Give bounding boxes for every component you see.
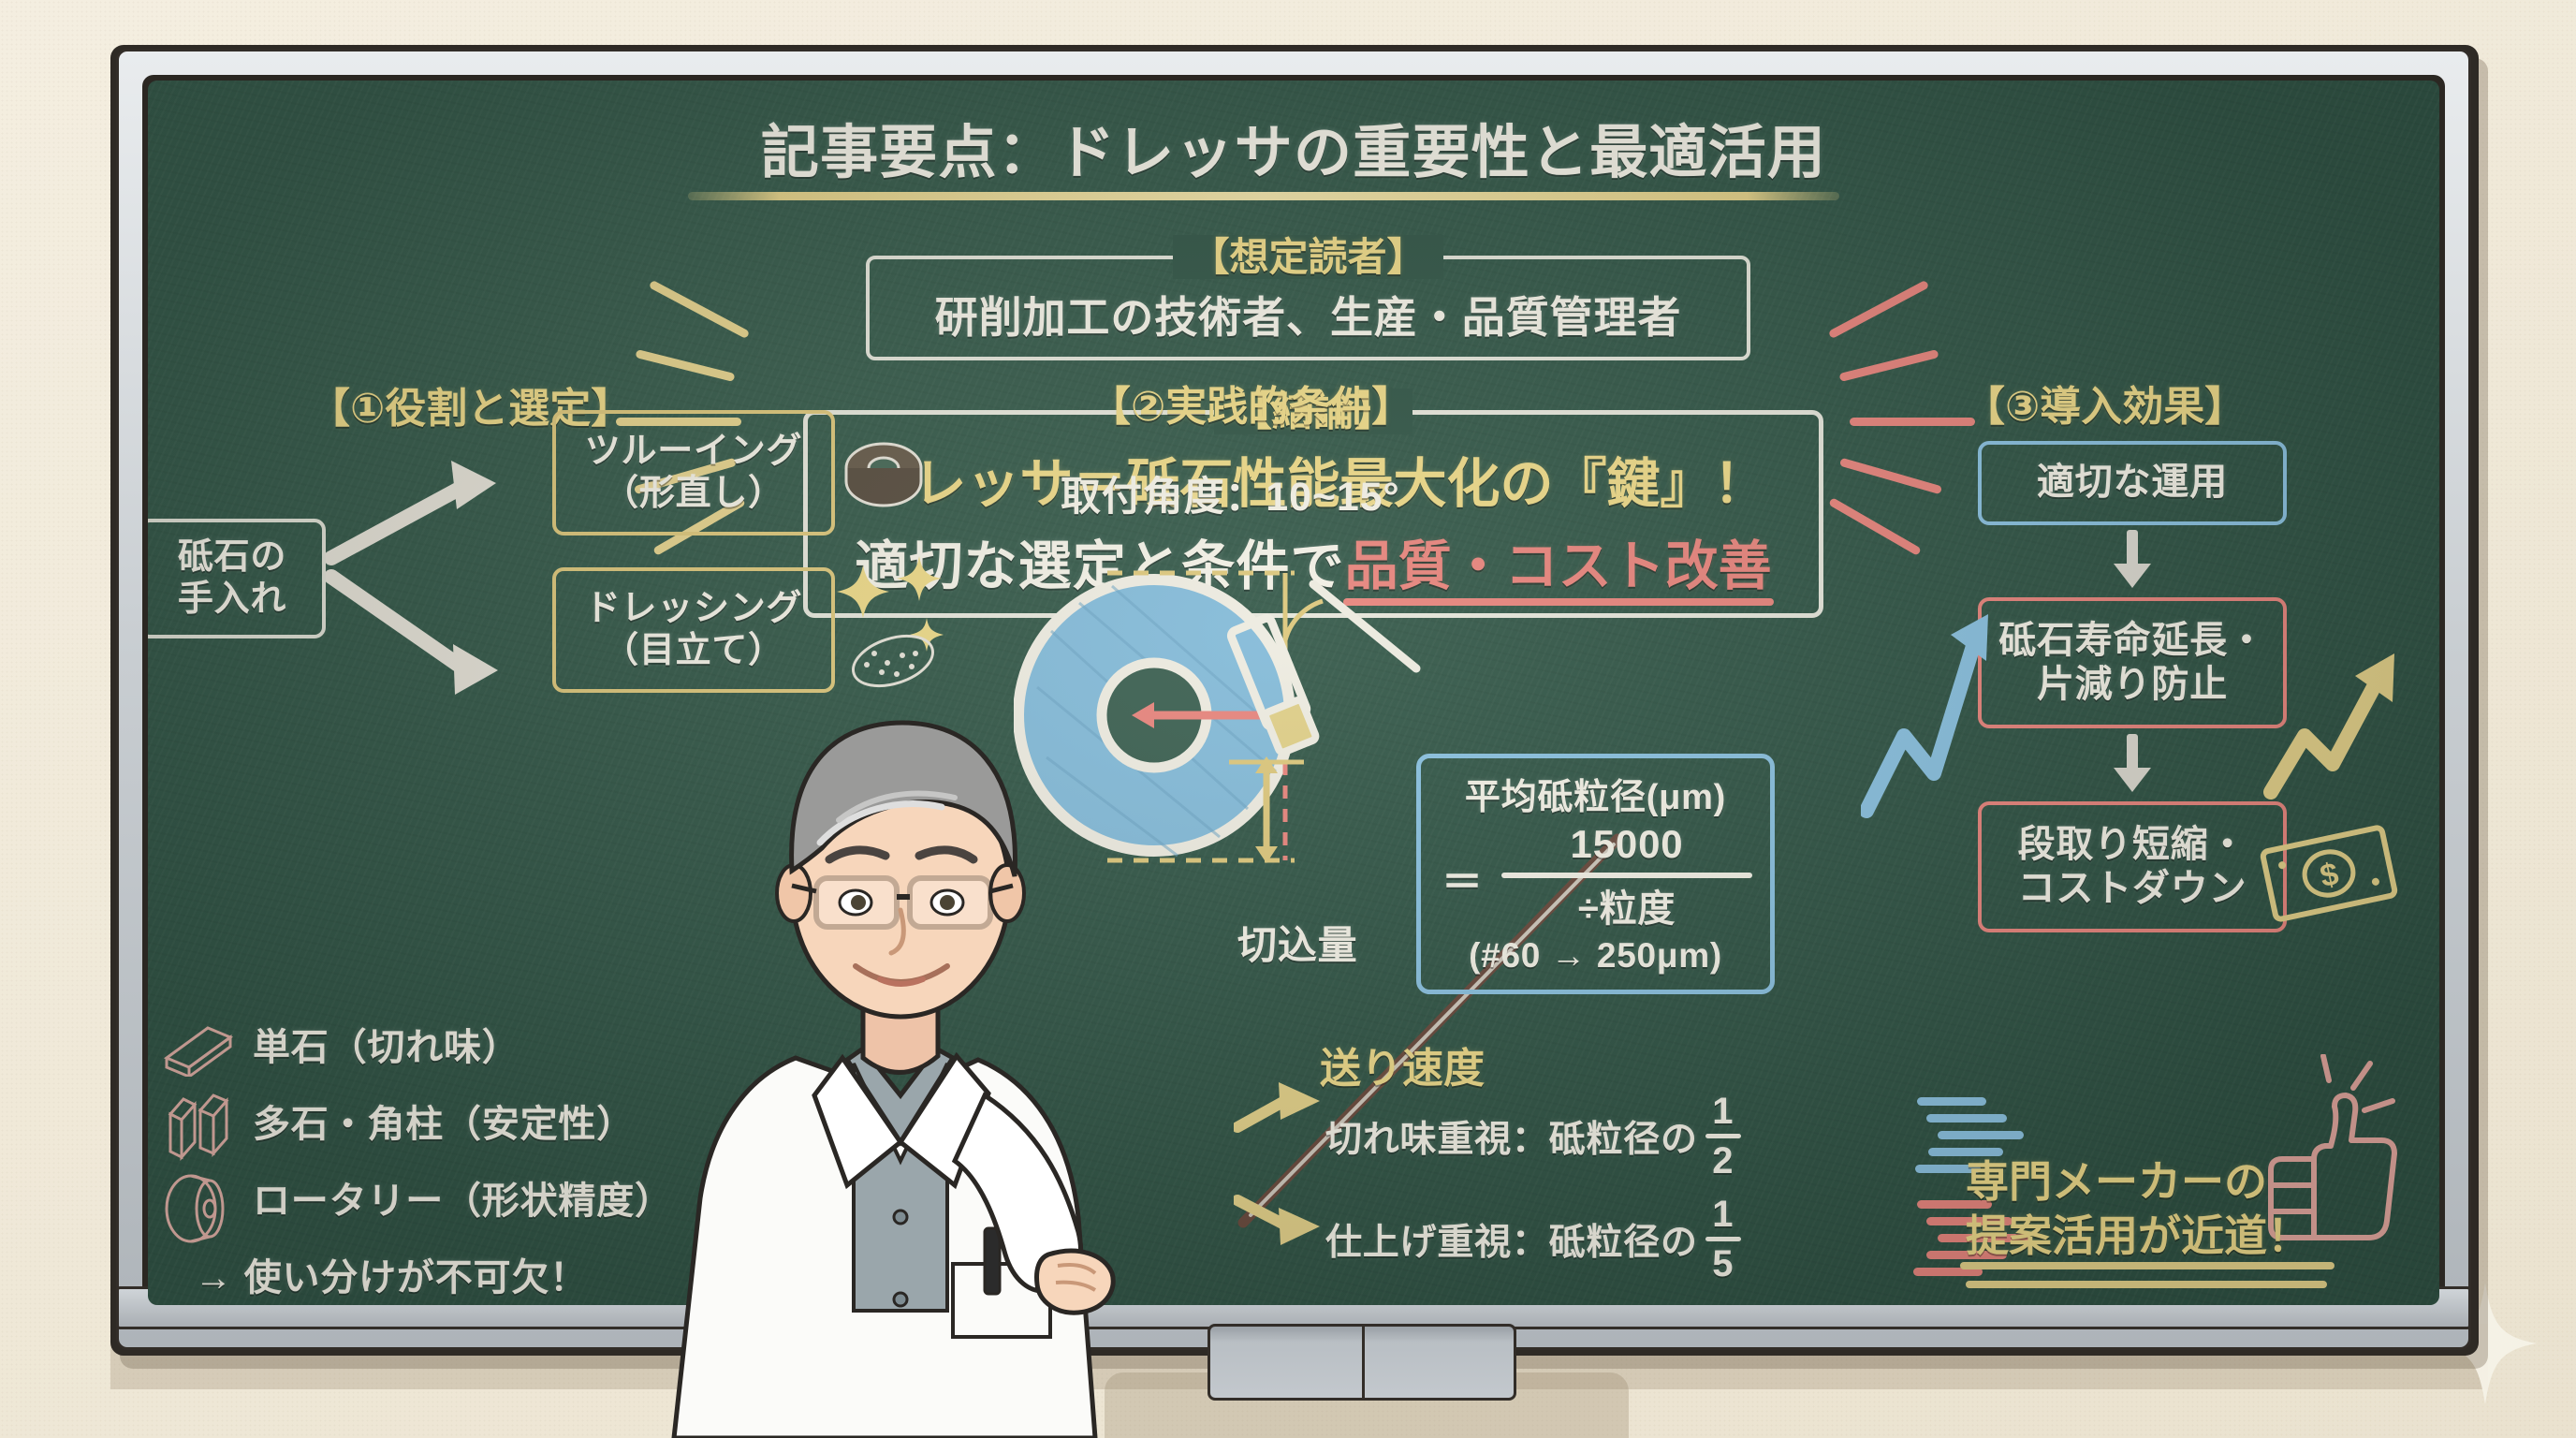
feed-row-2-denominator: 5 [1712,1246,1734,1282]
page-title: 記事要点：ドレッサの重要性と最適活用 [148,105,2439,189]
chalkboard-surface: 記事要点：ドレッサの重要性と最適活用 【想定読者】 研削加工の技術者、生産・品質… [148,81,2439,1305]
source-node-line-2: 手入れ [178,579,286,621]
feed-arrow-1-icon [1234,1082,1327,1148]
flow-node-wheel-life-line-2: 片減り防止 [2037,663,2228,707]
svg-text:$: $ [2317,856,2341,894]
formula-title: 平均砥粒径(μm) [1421,768,1770,819]
formula-denominator: ÷粒度 [1496,878,1758,932]
assumed-readers-label: 【想定読者】 [870,226,1747,283]
list-item-rotary: ロータリー（形状精度） [253,1170,673,1225]
section-3-heading: 【③導入効果】 [1964,373,2246,433]
closing-message: 専門メーカーの 提案活用が近道！ [1966,1155,2310,1263]
rotary-dresser-icon [157,1170,243,1247]
feed-row-1-denominator: 2 [1712,1143,1734,1179]
feed-arrow-2-icon [1234,1181,1327,1247]
assumed-readers-box: 【想定読者】 研削加工の技術者、生産・品質管理者 [866,256,1750,360]
flow-node-setup-cost-line-2: コストダウン [2018,867,2247,911]
branch-truing-line-1: ツルーイング [585,431,803,473]
closing-message-line-2: 提案活用が近道！ [1966,1210,2310,1264]
single-stone-icon [155,1020,238,1077]
assumed-readers-text: 研削加工の技術者、生産・品質管理者 [870,284,1747,345]
flow-node-setup-cost-line-1: 段取り短縮・ [2018,823,2247,867]
list-item-multi-stone: 多石・角柱（安定性） [253,1093,635,1148]
up-trend-arrow-yellow-icon [2263,633,2413,801]
grinding-wheel-icon [839,427,929,517]
feed-row-1: 切れ味重視：砥粒径の 1 2 [1325,1093,1741,1179]
flow-node-wheel-life-line-1: 砥石寿命延長・ [1998,619,2266,663]
feed-speed-title: 送り速度 [1320,1034,1485,1094]
closing-underline-2 [1966,1281,2327,1288]
money-bill-icon: $ [2259,820,2399,928]
up-trend-arrow-blue-icon [1861,586,2001,820]
feed-row-2-text: 仕上げ重視：砥粒径の [1325,1213,1698,1266]
branch-truing-line-2: （形直し） [603,473,784,515]
section-1-footer: → 使い分けが不可欠！ [195,1247,588,1301]
branch-arrows [326,436,541,736]
title-underline [688,192,1839,200]
flow-node-wheel-life: 砥石寿命延長・ 片減り防止 [1978,597,2287,728]
formula-equals: ＝ [1442,848,1484,908]
multi-stone-prism-icon [157,1093,240,1167]
branch-truing-box: ツルーイング （形直し） [552,410,835,536]
chalk-tray-box [1207,1324,1516,1401]
source-node-box: 砥石の 手入れ [148,519,326,638]
closing-underline-1 [1960,1262,2334,1269]
source-node-line-1: 砥石の [178,536,286,579]
feed-row-1-numerator: 1 [1712,1093,1734,1129]
feed-row-2: 仕上げ重視：砥粒径の 1 5 [1325,1196,1741,1282]
section-2-heading: 【②実践的条件】 [1090,373,1412,433]
teacher-illustration [655,655,1142,1438]
abrasive-size-formula-box: 平均砥粒径(μm) ＝ 15000 ÷粒度 (#60 → 250μm) [1416,754,1775,994]
mounting-angle-label: 取付角度：10~15° [1061,464,1399,522]
feed-row-2-fraction: 1 5 [1705,1196,1741,1282]
branch-dressing-line-1: ドレッシング [585,588,803,630]
flow-node-proper-operation: 適切な運用 [1978,441,2287,525]
flow-node-setup-cost: 段取り短縮・ コストダウン [1978,801,2287,932]
formula-numerator: 15000 [1496,822,1758,867]
list-item-single-stone: 単石（切れ味） [253,1017,520,1071]
closing-message-line-1: 専門メーカーの [1966,1155,2310,1210]
feed-row-1-fraction: 1 2 [1705,1093,1741,1179]
feed-row-1-text: 切れ味重視：砥粒径の [1325,1110,1698,1163]
feed-row-2-numerator: 1 [1712,1196,1734,1232]
formula-note: (#60 → 250μm) [1421,936,1770,976]
